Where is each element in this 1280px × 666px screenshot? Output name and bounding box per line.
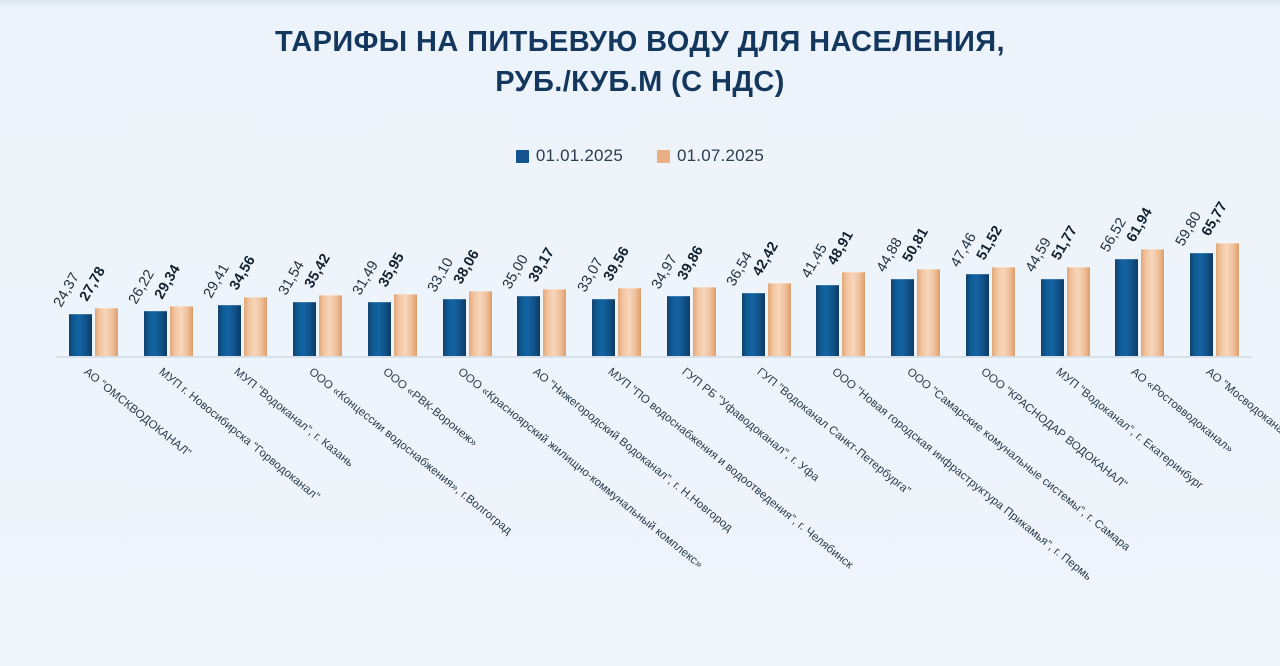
bar-group: 33,0739,56 xyxy=(579,180,654,356)
bar-value-label: 31,54 xyxy=(275,258,307,298)
x-axis-label-slot: МУП "Водоканал", г. Казань xyxy=(206,362,281,652)
bar-series-1[interactable]: 36,54 xyxy=(742,293,765,356)
legend-label: 01.01.2025 xyxy=(536,146,623,166)
bar-series-2[interactable]: 35,95 xyxy=(394,294,417,356)
bar-series-2[interactable]: 51,52 xyxy=(992,267,1015,356)
bar-wrapper: 44,88 xyxy=(891,180,914,356)
slide-root: ТАРИФЫ НА ПИТЬЕВУЮ ВОДУ ДЛЯ НАСЕЛЕНИЯ, Р… xyxy=(0,0,1280,666)
x-axis-label-slot: АО "ОМСКВОДОКАНАЛ" xyxy=(56,362,131,652)
bar-series-1[interactable]: 44,59 xyxy=(1041,279,1064,356)
bar-series-2[interactable]: 39,56 xyxy=(618,288,641,356)
x-axis-label-slot: ГУП "Водоканал Санкт-Петербурга" xyxy=(729,362,804,652)
x-axis-label-slot: ООО "КРАСНОДАР ВОДОКАНАЛ" xyxy=(953,362,1028,652)
bar-group: 24,3727,78 xyxy=(56,180,131,356)
x-axis-label-slot: ООО "Новая городская инфраструктура Прик… xyxy=(804,362,879,652)
bar-group: 31,5435,42 xyxy=(280,180,355,356)
bar-wrapper: 47,46 xyxy=(966,180,989,356)
bar-group: 59,8065,77 xyxy=(1177,180,1252,356)
x-axis-label-slot: АО «Ростовводоканал» xyxy=(1103,362,1178,652)
legend-label: 01.07.2025 xyxy=(677,146,764,166)
bar-value-label: 26,22 xyxy=(126,267,158,307)
bar-group: 33,1038,06 xyxy=(430,180,505,356)
bar-group: 44,8850,81 xyxy=(878,180,953,356)
bar-series-2[interactable]: 61,94 xyxy=(1141,249,1164,356)
bar-series-2[interactable]: 48,91 xyxy=(842,272,865,356)
bar-wrapper: 39,56 xyxy=(618,180,641,356)
bar-series-1[interactable]: 26,22 xyxy=(144,311,167,356)
bar-wrapper: 44,59 xyxy=(1041,180,1064,356)
bar-group: 44,5951,77 xyxy=(1028,180,1103,356)
x-axis-label-slot: ГУП РБ "Уфаводоканал", г. Уфа xyxy=(654,362,729,652)
bar-group: 35,0039,17 xyxy=(505,180,580,356)
chart-title: ТАРИФЫ НА ПИТЬЕВУЮ ВОДУ ДЛЯ НАСЕЛЕНИЯ, Р… xyxy=(0,22,1280,102)
bar-series-2[interactable]: 39,17 xyxy=(543,289,566,356)
bar-wrapper: 24,37 xyxy=(69,180,92,356)
x-axis-label-slot: МУП "ПО водоснабжения и водоотведения", … xyxy=(579,362,654,652)
bar-group: 47,4651,52 xyxy=(953,180,1028,356)
bar-series-2[interactable]: 38,06 xyxy=(469,291,492,356)
bar-series-1[interactable]: 33,07 xyxy=(592,299,615,356)
bar-series-2[interactable]: 39,86 xyxy=(693,287,716,356)
bar-group: 41,4548,91 xyxy=(804,180,879,356)
bar-wrapper: 50,81 xyxy=(917,180,940,356)
bar-series-1[interactable]: 31,54 xyxy=(293,302,316,356)
bar-series-1[interactable]: 59,80 xyxy=(1190,253,1213,356)
x-axis-label-slot: МУП г. Новосибирска "Горводоканал" xyxy=(131,362,206,652)
bar-series-2[interactable]: 50,81 xyxy=(917,269,940,356)
x-axis-label-slot: МУП "Водоканал", г. Екатеринбург xyxy=(1028,362,1103,652)
bar-wrapper: 61,94 xyxy=(1141,180,1164,356)
legend-swatch-01-07-2025 xyxy=(657,150,670,163)
bar-group: 36,5442,42 xyxy=(729,180,804,356)
bar-series-2[interactable]: 35,42 xyxy=(319,295,342,356)
bar-series-2[interactable]: 34,56 xyxy=(244,297,267,356)
legend-item[interactable]: 01.01.2025 xyxy=(516,146,623,166)
bar-series-1[interactable]: 24,37 xyxy=(69,314,92,356)
bar-wrapper: 35,95 xyxy=(394,180,417,356)
x-axis-label-slot: ООО «РВК-Воронеж» xyxy=(355,362,430,652)
bar-series-1[interactable]: 56,52 xyxy=(1115,259,1138,356)
bar-wrapper: 41,45 xyxy=(816,180,839,356)
bar-series-2[interactable]: 51,77 xyxy=(1067,267,1090,356)
bar-groups: 24,3727,7826,2229,3429,4134,5631,5435,42… xyxy=(56,180,1252,356)
bar-wrapper: 48,91 xyxy=(842,180,865,356)
bar-series-1[interactable]: 41,45 xyxy=(816,285,839,356)
x-axis-label-slot: ООО «Концессии водоснабжения», г.Волгогр… xyxy=(280,362,355,652)
bar-series-2[interactable]: 42,42 xyxy=(768,283,791,356)
bar-wrapper: 51,52 xyxy=(992,180,1015,356)
x-axis-labels: АО "ОМСКВОДОКАНАЛ"МУП г. Новосибирска "Г… xyxy=(56,362,1252,652)
bar-wrapper: 39,17 xyxy=(543,180,566,356)
bar-group: 56,5261,94 xyxy=(1103,180,1178,356)
bar-wrapper: 29,34 xyxy=(170,180,193,356)
bar-group: 26,2229,34 xyxy=(131,180,206,356)
bar-series-1[interactable]: 35,00 xyxy=(517,296,540,356)
bar-value-label: 35,00 xyxy=(500,252,532,292)
bar-wrapper: 51,77 xyxy=(1067,180,1090,356)
bar-wrapper: 27,78 xyxy=(95,180,118,356)
bar-series-2[interactable]: 29,34 xyxy=(170,306,193,356)
x-axis-label: АО "Мосводоканал" xyxy=(1203,366,1280,443)
bar-series-1[interactable]: 29,41 xyxy=(218,305,241,356)
bar-series-2[interactable]: 65,77 xyxy=(1216,243,1239,356)
legend-item[interactable]: 01.07.2025 xyxy=(657,146,764,166)
bar-wrapper: 35,42 xyxy=(319,180,342,356)
bar-series-1[interactable]: 47,46 xyxy=(966,274,989,356)
bar-group: 31,4935,95 xyxy=(355,180,430,356)
axis-baseline xyxy=(56,356,1252,358)
bar-wrapper: 42,42 xyxy=(768,180,791,356)
chart-title-line-2: РУБ./КУБ.М (С НДС) xyxy=(0,62,1280,102)
bar-wrapper: 34,56 xyxy=(244,180,267,356)
bar-series-1[interactable]: 44,88 xyxy=(891,279,914,356)
legend-swatch-01-01-2025 xyxy=(516,150,529,163)
bar-series-2[interactable]: 27,78 xyxy=(95,308,118,356)
bar-wrapper: 38,06 xyxy=(469,180,492,356)
chart-plot-area: 24,3727,7826,2229,3429,4134,5631,5435,42… xyxy=(56,180,1252,358)
bar-wrapper: 59,80 xyxy=(1190,180,1213,356)
bar-group: 29,4134,56 xyxy=(206,180,281,356)
x-axis-label-slot: АО "Нижегородский Водоканал", г. Н.Новго… xyxy=(505,362,580,652)
x-axis-label-slot: ООО «Красноярский жилищно-коммунальный к… xyxy=(430,362,505,652)
x-axis-label-slot: ООО "Самарские комунальные системы", г. … xyxy=(878,362,953,652)
bar-wrapper: 65,77 xyxy=(1216,180,1239,356)
x-axis-label-slot: АО "Мосводоканал" xyxy=(1177,362,1252,652)
bar-series-1[interactable]: 34,97 xyxy=(667,296,690,356)
bar-group: 34,9739,86 xyxy=(654,180,729,356)
bar-wrapper: 26,22 xyxy=(144,180,167,356)
bar-value-label: 24,37 xyxy=(51,270,83,310)
bar-series-1[interactable]: 31,49 xyxy=(368,302,391,356)
chart-title-line-1: ТАРИФЫ НА ПИТЬЕВУЮ ВОДУ ДЛЯ НАСЕЛЕНИЯ, xyxy=(0,22,1280,62)
bar-wrapper: 56,52 xyxy=(1115,180,1138,356)
bar-wrapper: 39,86 xyxy=(693,180,716,356)
bar-series-1[interactable]: 33,10 xyxy=(443,299,466,356)
chart-legend: 01.01.202501.07.2025 xyxy=(0,146,1280,166)
